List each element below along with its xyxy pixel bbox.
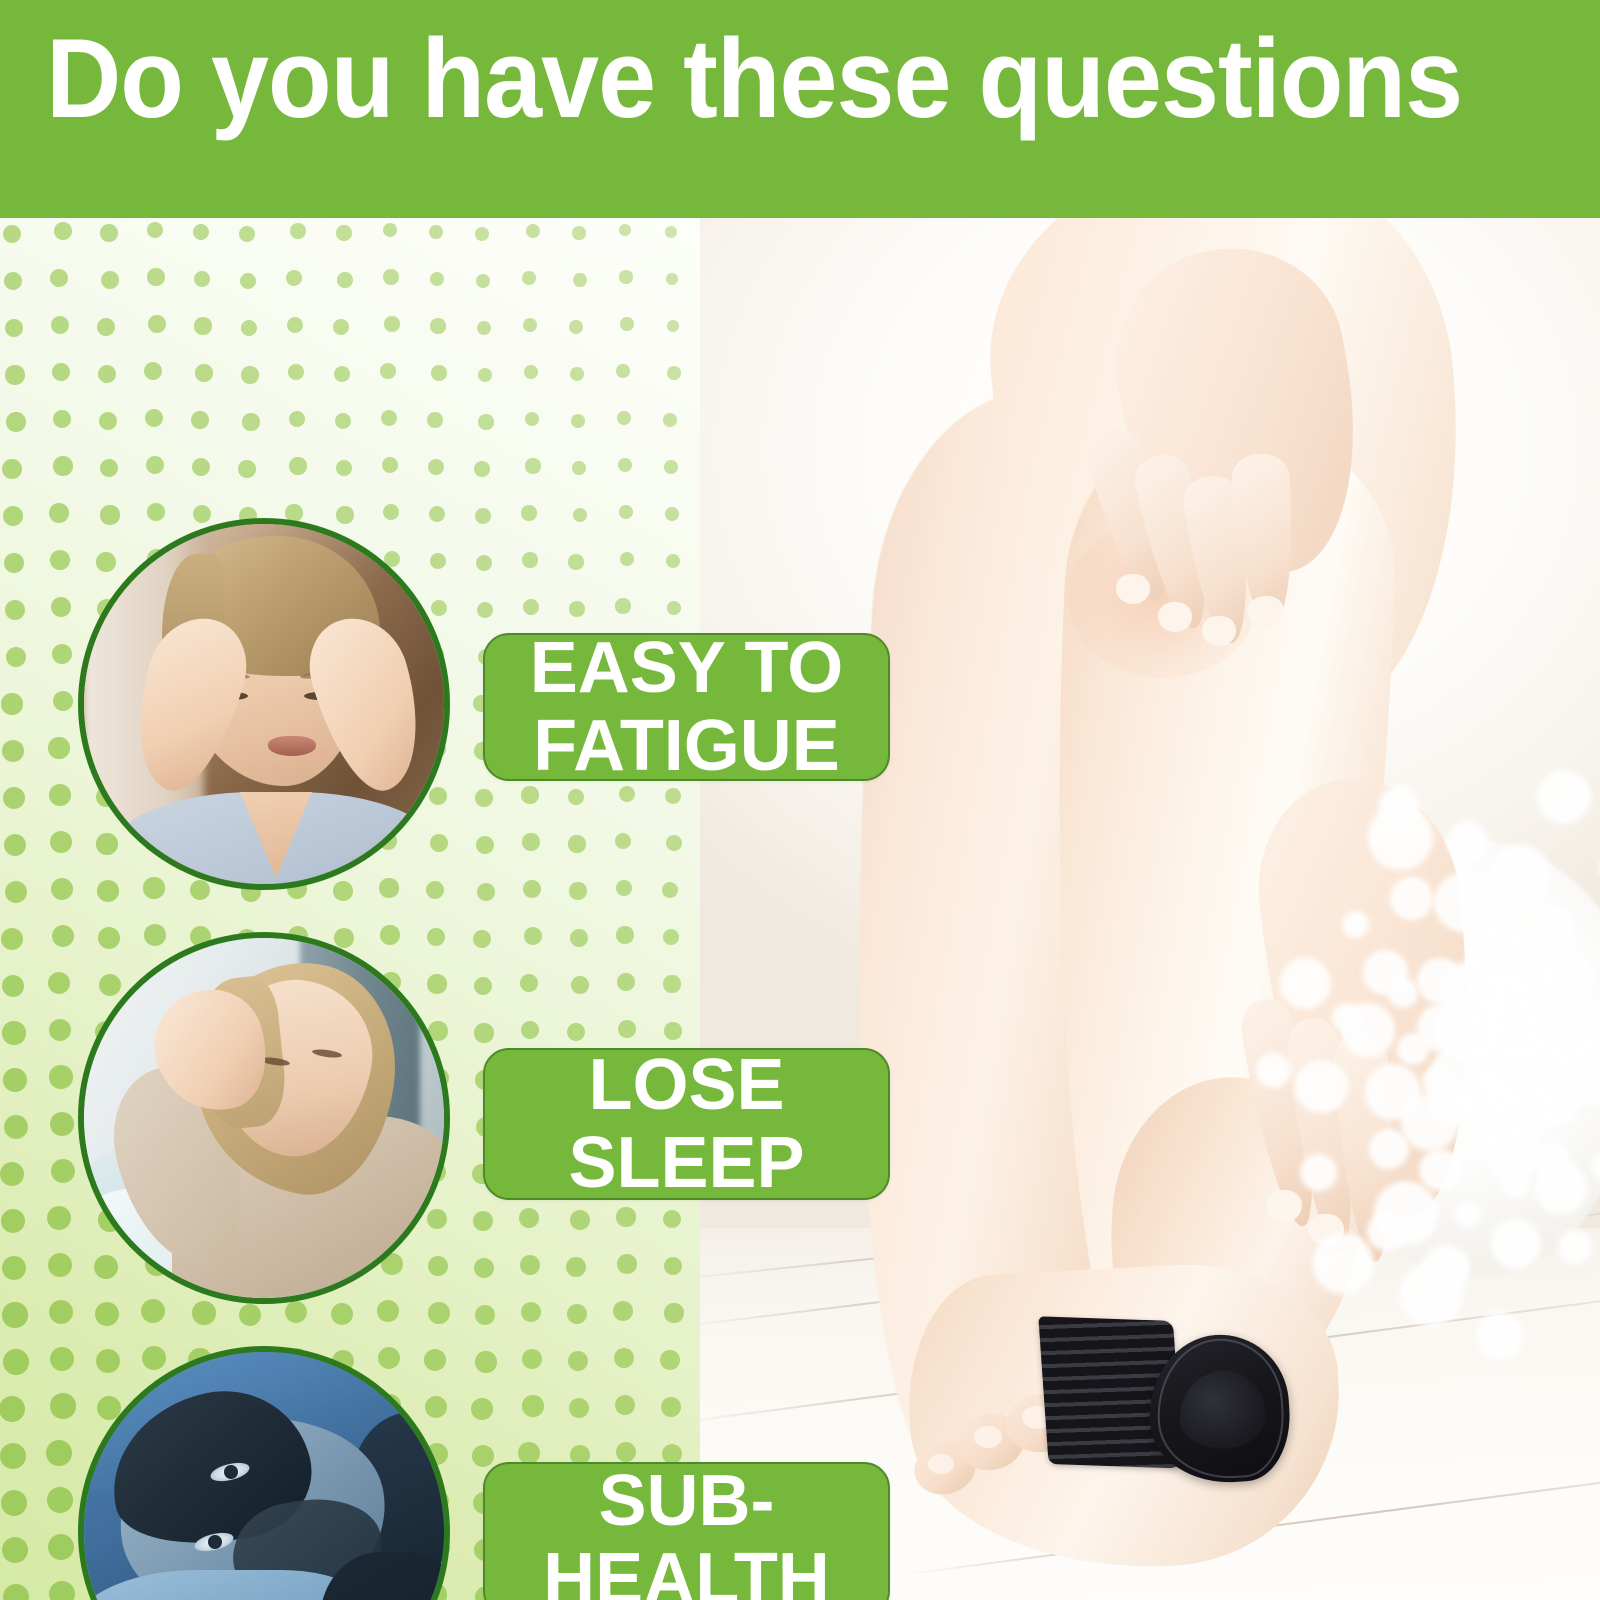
background-dot: [4, 272, 23, 291]
background-dot: [98, 365, 116, 383]
background-dot: [663, 975, 680, 992]
background-dot: [49, 503, 69, 523]
background-dot: [663, 929, 680, 946]
background-dot: [471, 1398, 492, 1419]
arch-support-brace: [1038, 1299, 1311, 1517]
rug-tuft: [1447, 821, 1488, 862]
background-dot: [478, 414, 493, 429]
background-dot: [476, 274, 490, 288]
background-dot: [337, 272, 353, 288]
background-dot: [51, 316, 69, 334]
background-dot: [619, 224, 632, 237]
background-dot: [521, 1021, 540, 1040]
background-dot: [192, 458, 210, 476]
background-dot: [2, 1537, 29, 1564]
background-dot: [524, 365, 539, 380]
background-dot: [615, 833, 632, 850]
background-dot: [331, 1303, 353, 1325]
background-dot: [285, 1301, 308, 1324]
background-dot: [571, 976, 589, 994]
background-dot: [427, 412, 443, 428]
background-dot: [242, 413, 259, 430]
rug-tuft: [1537, 770, 1591, 824]
background-dot: [524, 927, 542, 945]
header-banner: Do you have these questions: [0, 0, 1600, 218]
background-dot: [430, 272, 445, 287]
background-dot: [383, 504, 400, 521]
background-dot: [50, 1347, 75, 1372]
rug-tuft: [1367, 1212, 1406, 1251]
background-dot: [620, 552, 635, 567]
background-dot: [477, 321, 492, 336]
background-dot: [572, 461, 587, 476]
background-dot: [428, 459, 444, 475]
man-awake-in-bed-photo: [78, 1346, 450, 1600]
background-dot: [619, 270, 632, 283]
background-dot: [2, 1021, 25, 1044]
symptom-badge-lose-sleep[interactable]: LOSE SLEEP: [483, 1048, 890, 1200]
background-dot: [0, 1443, 26, 1469]
background-dot: [667, 320, 680, 333]
rug-tuft: [1256, 1053, 1291, 1088]
background-dot: [240, 273, 256, 289]
background-dot: [335, 413, 351, 429]
background-dot: [239, 226, 255, 242]
background-dot: [46, 1440, 72, 1466]
background-dot: [429, 506, 445, 522]
fingernail: [1158, 602, 1192, 632]
fingernail: [1248, 596, 1284, 628]
background-dot: [290, 223, 306, 239]
background-dot: [666, 835, 682, 851]
background-dot: [101, 271, 119, 289]
rug-tuft: [1363, 950, 1408, 995]
background-dot: [522, 1395, 543, 1416]
background-dot: [568, 789, 585, 806]
background-dot: [518, 1442, 539, 1463]
background-dot: [333, 319, 349, 335]
background-dot: [194, 271, 211, 288]
background-dot: [522, 1349, 543, 1370]
photo-content: [84, 938, 444, 1298]
background-dot: [664, 1303, 683, 1322]
symptom-badge-easy-to-fatigue[interactable]: EASY TO FATIGUE: [483, 633, 890, 781]
background-dot: [429, 225, 443, 239]
background-dot: [193, 505, 211, 523]
background-dot: [568, 554, 583, 569]
background-dot: [144, 362, 162, 380]
background-dot: [49, 784, 70, 805]
background-dot: [381, 410, 397, 426]
background-dot: [619, 505, 634, 520]
background-dot: [663, 413, 677, 427]
background-dot: [5, 365, 24, 384]
background-dot: [50, 1112, 73, 1135]
background-dot: [195, 364, 212, 381]
background-dot: [667, 366, 680, 379]
background-dot: [667, 601, 682, 616]
background-dot: [428, 1302, 449, 1323]
background-dot: [573, 273, 586, 286]
background-dot: [476, 836, 494, 854]
background-dot: [49, 1300, 74, 1325]
background-dot: [239, 1304, 262, 1327]
background-dot: [380, 363, 396, 379]
background-dot: [614, 1348, 634, 1368]
background-dot: [382, 457, 398, 473]
symptom-badge-label: SUB- HEALTH: [543, 1462, 830, 1600]
fingernail: [1116, 574, 1150, 604]
background-dot: [47, 1487, 73, 1513]
background-dot: [522, 271, 536, 285]
background-dot: [520, 1255, 540, 1275]
background-dot: [520, 974, 538, 992]
background-dot: [51, 878, 73, 900]
rug-tuft: [1379, 786, 1419, 826]
background-dot: [3, 1068, 27, 1092]
toenail: [928, 1454, 954, 1474]
background-dot: [49, 1019, 72, 1042]
woman-tired-on-couch-photo: [78, 932, 450, 1304]
toenail: [974, 1426, 1002, 1448]
background-dot: [53, 456, 72, 475]
rug-tuft: [1342, 911, 1369, 938]
rug-tuft: [1434, 873, 1493, 932]
background-dot: [95, 1302, 119, 1326]
background-dot: [193, 224, 210, 241]
background-dot: [663, 1210, 682, 1229]
background-dot: [383, 223, 398, 238]
background-dot: [615, 598, 630, 613]
background-dot: [523, 599, 539, 615]
background-dot: [100, 224, 117, 241]
background-dot: [664, 1022, 681, 1039]
background-dot: [523, 318, 537, 332]
background-dot: [141, 1299, 165, 1323]
background-dot: [336, 225, 351, 240]
background-dot: [2, 1256, 27, 1281]
background-dot: [566, 1257, 586, 1277]
background-dot: [1, 928, 24, 951]
background-dot: [52, 644, 72, 664]
background-dot: [51, 1159, 75, 1183]
content-background: EASY TO FATIGUE LOSE SLEEP SUB- HEALTH: [0, 218, 1600, 1600]
background-dot: [521, 786, 538, 803]
background-dot: [474, 1023, 493, 1042]
product-lifestyle-photo: [700, 218, 1600, 1600]
background-dot: [288, 364, 305, 381]
background-dot: [4, 553, 24, 573]
rug-tuft: [1540, 907, 1573, 940]
background-dot: [49, 1065, 72, 1088]
background-dot: [525, 412, 540, 427]
background-dot: [619, 786, 635, 802]
background-dot: [568, 835, 585, 852]
background-dot: [664, 460, 678, 474]
rug-tuft: [1436, 997, 1500, 1061]
background-dot: [53, 691, 74, 712]
rug-tuft: [1313, 1233, 1374, 1294]
symptom-badge-sub-health[interactable]: SUB- HEALTH: [483, 1462, 890, 1600]
background-dot: [665, 226, 677, 238]
background-dot: [572, 226, 585, 239]
background-dot: [478, 368, 493, 383]
background-dot: [430, 318, 445, 333]
background-dot: [474, 461, 490, 477]
rug-tuft: [1491, 1045, 1548, 1102]
background-dot: [52, 925, 74, 947]
background-dot: [617, 1254, 636, 1273]
background-dot: [100, 505, 119, 524]
background-dot: [50, 550, 70, 570]
background-dot: [50, 1393, 75, 1418]
woman-headache-photo: [78, 518, 450, 890]
background-dot: [570, 929, 588, 947]
background-dot: [474, 1258, 495, 1279]
background-dot: [49, 1581, 75, 1600]
rug-tuft: [1486, 912, 1521, 947]
background-dot: [2, 459, 22, 479]
background-dot: [52, 363, 71, 382]
background-dot: [4, 1115, 28, 1139]
background-dot: [665, 507, 679, 521]
background-dot: [384, 316, 399, 331]
background-dot: [573, 508, 588, 523]
background-dot: [286, 270, 302, 286]
background-dot: [191, 411, 209, 429]
background-dot: [521, 1302, 541, 1322]
background-dot: [3, 506, 23, 526]
background-dot: [570, 367, 584, 381]
background-dot: [0, 1396, 25, 1422]
background-dot: [475, 1305, 496, 1326]
background-dot: [522, 552, 538, 568]
background-dot: [4, 834, 26, 856]
background-dot: [146, 456, 164, 474]
background-dot: [666, 273, 679, 286]
background-dot: [472, 1445, 494, 1467]
background-dot: [475, 789, 493, 807]
background-dot: [2, 1302, 27, 1327]
background-dot: [50, 269, 68, 287]
background-dot: [567, 1304, 587, 1324]
background-dot: [0, 1162, 24, 1186]
background-dot: [1, 693, 22, 714]
background-dot: [615, 1395, 635, 1415]
page-title: Do you have these questions: [46, 26, 1469, 132]
background-dot: [148, 315, 166, 333]
background-dot: [1, 1209, 25, 1233]
background-dot: [241, 366, 258, 383]
background-dot: [289, 411, 306, 428]
rug-tuft: [1390, 877, 1433, 920]
rug-tuft: [1280, 958, 1331, 1009]
background-dot: [431, 365, 446, 380]
background-dot: [50, 831, 72, 853]
rug-tuft: [1369, 1129, 1409, 1169]
photo-content: [84, 1352, 444, 1600]
background-dot: [238, 460, 256, 478]
background-dot: [616, 1207, 635, 1226]
background-dot: [526, 224, 540, 238]
background-dot: [54, 222, 72, 240]
background-dot: [289, 457, 306, 474]
background-dot: [475, 1351, 496, 1372]
background-dot: [5, 319, 24, 338]
background-dot: [569, 882, 586, 899]
background-dot: [473, 1211, 493, 1231]
background-dot: [147, 268, 164, 285]
background-dot: [48, 737, 69, 758]
photo-content: [84, 524, 444, 884]
background-dot: [616, 1442, 637, 1463]
background-dot: [571, 414, 585, 428]
background-dot: [616, 364, 630, 378]
background-dot: [523, 880, 541, 898]
background-dot: [476, 555, 492, 571]
background-dot: [147, 222, 164, 239]
background-dot: [97, 318, 115, 336]
background-dot: [570, 1210, 589, 1229]
background-dot: [6, 647, 27, 668]
background-dot: [567, 1023, 585, 1041]
background-dot: [147, 503, 166, 522]
rug-tuft: [1422, 1065, 1456, 1099]
background-dot: [145, 409, 163, 427]
background-dot: [477, 602, 493, 618]
background-dot: [525, 458, 540, 473]
rug-tuft: [1332, 1003, 1361, 1032]
background-dot: [5, 600, 26, 621]
background-dot: [568, 1351, 588, 1371]
pupil: [224, 1465, 238, 1479]
background-dot: [47, 1206, 71, 1230]
background-dot: [617, 411, 631, 425]
background-dot: [569, 320, 583, 334]
fingernail: [1266, 1190, 1302, 1222]
background-dot: [521, 505, 536, 520]
mouth: [268, 736, 316, 756]
rug-tuft: [1419, 1149, 1461, 1191]
background-dot: [48, 972, 71, 995]
background-dot: [1, 1490, 27, 1516]
background-dot: [477, 883, 495, 901]
rug-tuft: [1295, 1060, 1348, 1113]
background-dot: [99, 412, 118, 431]
background-dot: [519, 1208, 539, 1228]
background-dot: [3, 225, 21, 243]
background-dot: [377, 1300, 399, 1322]
background-dot: [5, 881, 27, 903]
background-dot: [336, 506, 353, 523]
background-dot: [3, 1349, 28, 1374]
product-infographic: EASY TO FATIGUE LOSE SLEEP SUB- HEALTH D…: [0, 0, 1600, 1600]
background-dot: [6, 412, 25, 431]
background-dot: [48, 1253, 72, 1277]
background-dot: [475, 227, 489, 241]
background-dot: [287, 317, 303, 333]
rug-tuft: [1473, 1114, 1502, 1143]
rug-tuft: [1491, 1219, 1541, 1269]
fingernail: [1202, 616, 1236, 646]
background-dot: [473, 930, 491, 948]
background-dot: [100, 459, 119, 478]
rug-tuft: [1493, 845, 1550, 902]
background-dot: [662, 882, 679, 899]
background-dot: [613, 1301, 633, 1321]
background-dot: [569, 601, 585, 617]
background-dot: [617, 973, 635, 991]
pupil: [208, 1535, 222, 1549]
background-dot: [475, 508, 491, 524]
background-dot: [660, 1350, 679, 1369]
background-dot: [192, 1301, 215, 1324]
background-dot: [53, 410, 72, 429]
rug-tuft: [1500, 944, 1551, 995]
background-dot: [661, 1397, 681, 1417]
background-dot: [666, 554, 680, 568]
background-dot: [618, 458, 632, 472]
background-dot: [618, 1020, 636, 1038]
background-dot: [334, 366, 350, 382]
background-dot: [474, 977, 493, 996]
background-dot: [2, 975, 25, 998]
rug-tuft: [1476, 1312, 1523, 1359]
background-dot: [665, 788, 681, 804]
background-dot: [522, 833, 539, 850]
background-dot: [51, 597, 71, 617]
background-dot: [2, 740, 23, 761]
background-dot: [383, 269, 398, 284]
background-dot: [569, 1398, 590, 1419]
background-dot: [194, 317, 211, 334]
background-dot: [333, 881, 352, 900]
background-dot: [3, 787, 25, 809]
background-dot: [616, 926, 633, 943]
background-dot: [664, 1257, 683, 1276]
symptom-badge-label: EASY TO FATIGUE: [530, 629, 843, 785]
background-dot: [336, 460, 353, 477]
background-dot: [241, 320, 258, 337]
background-dot: [3, 1584, 30, 1600]
background-dot: [616, 880, 633, 897]
background-dot: [48, 1534, 74, 1560]
background-dot: [620, 317, 633, 330]
symptom-badge-label: LOSE SLEEP: [568, 1046, 804, 1202]
